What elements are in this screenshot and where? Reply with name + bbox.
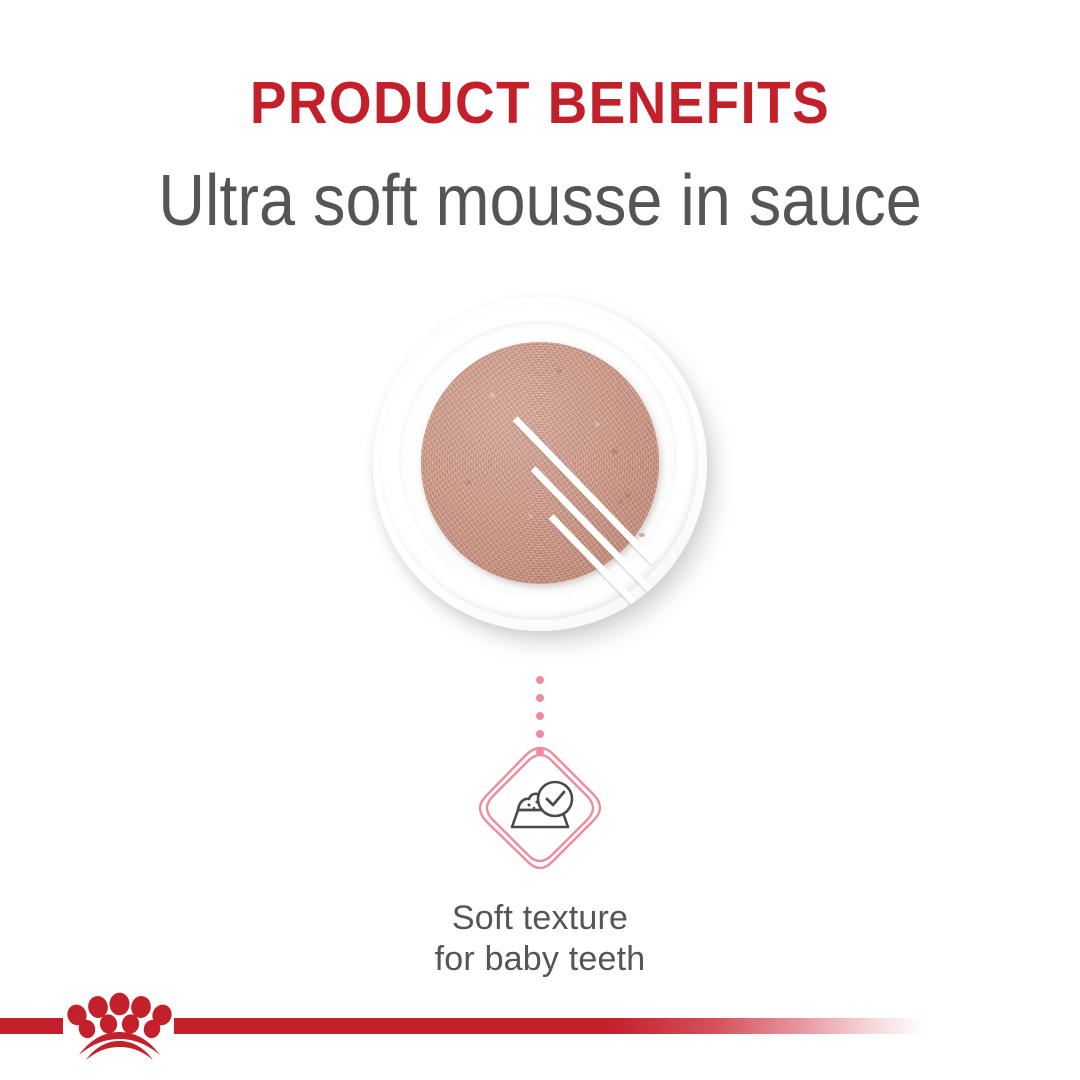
product-benefits-panel: PRODUCT BENEFITS Ultra soft mousse in sa…	[0, 0, 1080, 1080]
mousse-crumb	[611, 449, 618, 454]
connector-dot	[536, 694, 544, 702]
crown-paw-icon	[62, 986, 177, 1060]
benefit-caption: Soft texture for baby teeth	[435, 898, 646, 981]
footer-rule-right	[174, 1018, 924, 1034]
mousse-crumb	[639, 533, 645, 537]
page-eyebrow: PRODUCT BENEFITS	[38, 74, 1042, 133]
hero-food-image	[373, 297, 707, 631]
royal-canin-crown-paw-logo	[62, 986, 177, 1060]
page-title: Ultra soft mousse in sauce	[54, 164, 1026, 240]
benefit-caption-line-2: for baby teeth	[435, 939, 646, 980]
connector-dot	[536, 676, 544, 684]
mousse-disc	[421, 342, 659, 584]
connector-dot	[536, 730, 544, 738]
footer-rule-left	[0, 1018, 63, 1034]
food-bowl-check-icon	[474, 742, 606, 874]
benefit-caption-line-1: Soft texture	[435, 898, 646, 939]
mousse-clip	[373, 297, 707, 631]
benefit-block: Soft texture for baby teeth	[0, 742, 1080, 981]
mousse-crumb	[625, 493, 631, 498]
connector-dot	[536, 712, 544, 720]
diamond-frame	[474, 742, 606, 874]
